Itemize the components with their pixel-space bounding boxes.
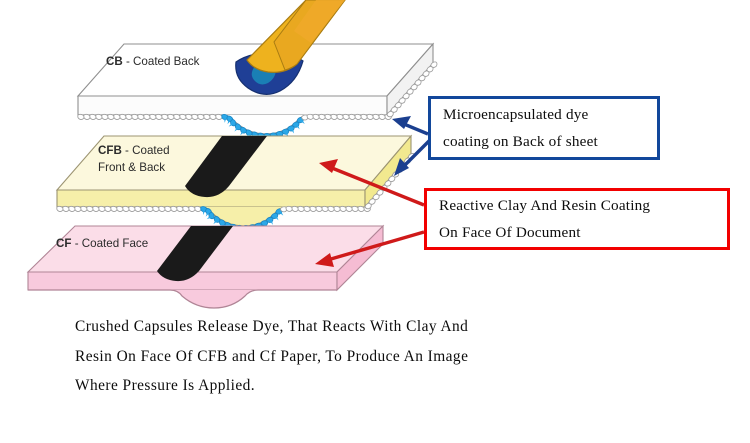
callout-microencapsulated-dye: Microencapsulated dye coating on Back of… <box>428 96 660 160</box>
sheet-code-cb: CB <box>106 55 123 68</box>
sheet-desc-cfb: - Coated <box>122 144 170 157</box>
sheet-label-cfb: CFB - Coated <box>98 144 170 157</box>
caption-line-2: Resin On Face Of CFB and Cf Paper, To Pr… <box>75 342 635 372</box>
callout-blue-line-2: coating on Back of sheet <box>443 128 647 155</box>
diagram-caption: Crushed Capsules Release Dye, That React… <box>75 312 635 401</box>
callout-blue-line-1: Microencapsulated dye <box>443 101 647 128</box>
caption-line-1: Crushed Capsules Release Dye, That React… <box>75 312 635 342</box>
sheet-label-cb: CB - Coated Back <box>106 55 199 68</box>
sheet-label-cfb-line2: Front & Back <box>98 161 165 174</box>
callout-red-line-2: On Face Of Document <box>439 219 717 246</box>
callout-red-line-1: Reactive Clay And Resin Coating <box>439 192 717 219</box>
caption-line-3: Where Pressure Is Applied. <box>75 371 635 401</box>
sheet-desc-cb: - Coated Back <box>123 55 200 68</box>
sheet-desc-cf: - Coated Face <box>71 237 148 250</box>
diagram-canvas: CB - Coated Back CFB - Coated Front & Ba… <box>0 0 750 443</box>
callout-reactive-clay-resin: Reactive Clay And Resin Coating On Face … <box>424 188 730 250</box>
sheet-code-cf: CF <box>56 237 71 250</box>
sheet-label-cf: CF - Coated Face <box>56 237 148 250</box>
sheet-code-cfb: CFB <box>98 144 122 157</box>
